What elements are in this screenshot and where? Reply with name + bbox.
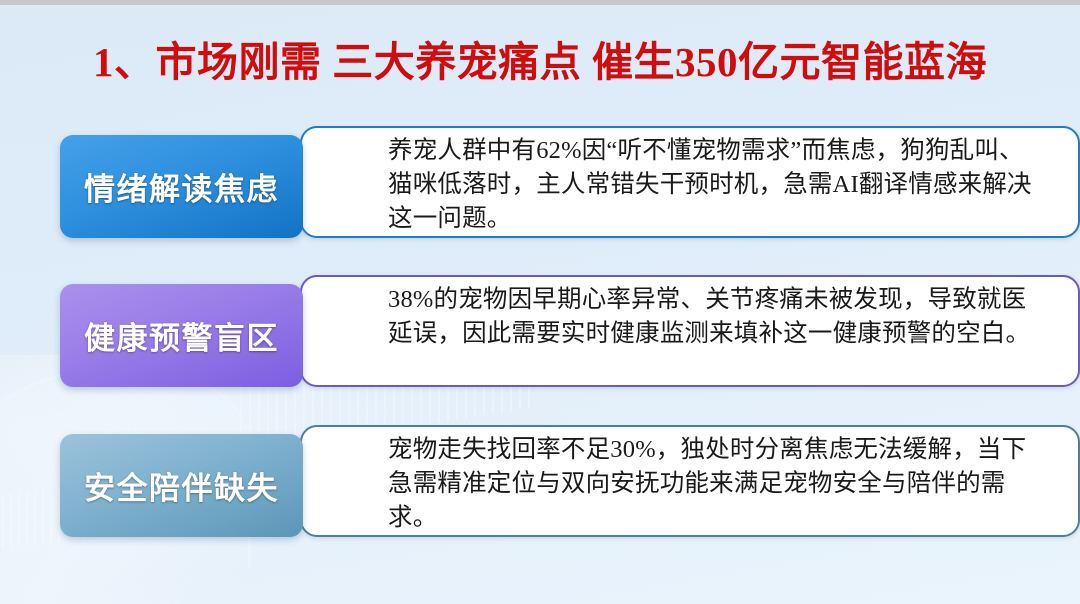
card-body: 宠物走失找回率不足30%，独处时分离焦虑无法缓解，当下急需精准定位与双向安抚功能…	[300, 425, 1080, 537]
card-label-text: 情绪解读焦虑	[84, 164, 279, 209]
card-description: 38%的宠物因早期心率异常、关节疼痛未被发现，导致就医延误，因此需要实时健康监测…	[388, 283, 1048, 351]
card-description: 宠物走失找回率不足30%，独处时分离焦虑无法缓解，当下急需精准定位与双向安抚功能…	[388, 433, 1048, 535]
card-body: 38%的宠物因早期心率异常、关节疼痛未被发现，导致就医延误，因此需要实时健康监测…	[300, 275, 1080, 387]
card-label-tab[interactable]: 情绪解读焦虑	[60, 135, 303, 238]
card-label-tab[interactable]: 健康预警盲区	[60, 284, 303, 387]
card-label-text: 健康预警盲区	[84, 313, 279, 358]
pain-point-card-list: 养宠人群中有62%因“听不懂宠物需求”而焦虑，狗狗乱叫、猫咪低落时，主人常错失干…	[0, 0, 1080, 604]
top-strip	[0, 0, 1080, 5]
card-label-tab[interactable]: 安全陪伴缺失	[60, 434, 303, 537]
slide-canvas: 1、市场刚需 三大养宠痛点 催生350亿元智能蓝海 养宠人群中有62%因“听不懂…	[0, 0, 1080, 604]
card-description: 养宠人群中有62%因“听不懂宠物需求”而焦虑，狗狗乱叫、猫咪低落时，主人常错失干…	[388, 134, 1048, 236]
card-label-text: 安全陪伴缺失	[84, 463, 279, 508]
card-body: 养宠人群中有62%因“听不懂宠物需求”而焦虑，狗狗乱叫、猫咪低落时，主人常错失干…	[300, 126, 1080, 238]
